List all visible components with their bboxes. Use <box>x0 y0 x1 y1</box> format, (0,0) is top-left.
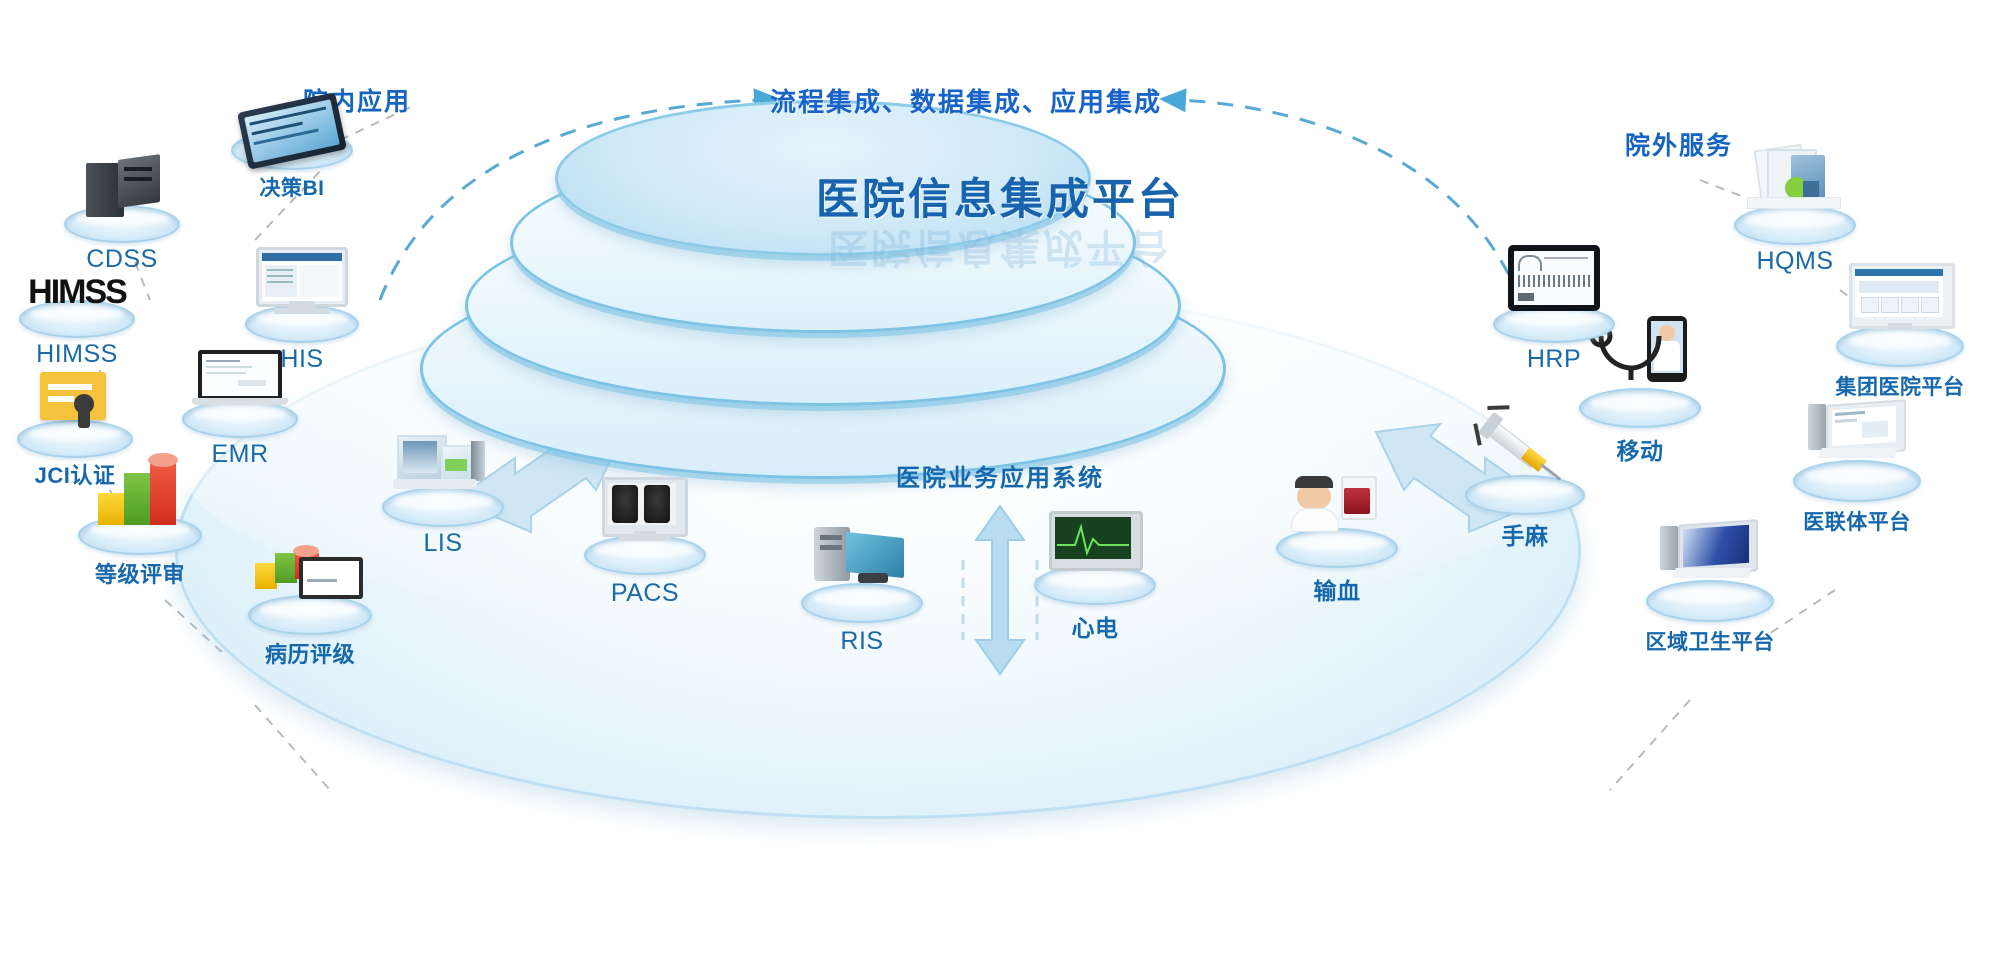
node-anes-label: 手麻 <box>1502 517 1549 551</box>
node-blood-label: 输血 <box>1314 572 1361 606</box>
desktop-monitor-icon <box>256 247 348 317</box>
node-bi-label: 决策BI <box>260 172 325 202</box>
laptop-chart-icon <box>255 543 365 605</box>
node-disc <box>801 583 923 623</box>
node-hqms-label: HQMS <box>1757 247 1834 276</box>
tablet-form-icon <box>1502 245 1606 315</box>
blood-bag-patient-icon <box>1289 474 1385 534</box>
node-emr-label: EMR <box>211 440 268 469</box>
tower-pc-icon <box>812 527 912 589</box>
bar-chart-icon <box>92 459 188 525</box>
himss-logo-icon: HIMSS <box>17 270 137 314</box>
desktop-blue-icon <box>1656 522 1764 588</box>
integration-banner: 流程集成、数据集成、应用集成 <box>770 82 1162 119</box>
certificate-seal-icon <box>40 372 110 430</box>
node-lis-label: LIS <box>423 529 462 558</box>
laptop-icon <box>192 350 288 408</box>
node-pacs-label: PACS <box>611 579 679 608</box>
diagram-canvas: 基础数据中心 临床数据中心 运营数据中心 医院信息集成平台 医院信息集成平台 医… <box>0 0 2000 955</box>
node-alliance-label: 医联体平台 <box>1803 506 1911 536</box>
node-ecg-label: 心电 <box>1072 609 1119 643</box>
node-mobile-label: 移动 <box>1617 432 1664 466</box>
node-hrp-label: HRP <box>1527 345 1581 374</box>
node-disc <box>1276 528 1398 568</box>
node-himss-label: HIMSS <box>36 340 118 369</box>
node-ris-label: RIS <box>840 627 883 656</box>
desktop-portal-icon <box>1847 263 1953 333</box>
server-rack-icon <box>84 157 160 219</box>
lab-analyzer-icon <box>393 435 493 495</box>
node-grouphosp-label: 集团医院平台 <box>1836 371 1965 401</box>
node-record-label: 病历评级 <box>265 637 355 669</box>
corner-label-external: 院外服务 <box>1625 126 1733 162</box>
ecg-monitor-icon <box>1049 511 1141 571</box>
node-regional-label: 区域卫生平台 <box>1646 626 1775 656</box>
business-systems-label: 医院业务应用系统 <box>0 458 2000 493</box>
node-grading-label: 等级评审 <box>95 557 185 589</box>
documents-folder-icon <box>1745 147 1845 213</box>
desktop-network-icon <box>1804 402 1910 468</box>
node-disc <box>1034 565 1156 605</box>
xray-monitor-icon <box>600 477 690 543</box>
